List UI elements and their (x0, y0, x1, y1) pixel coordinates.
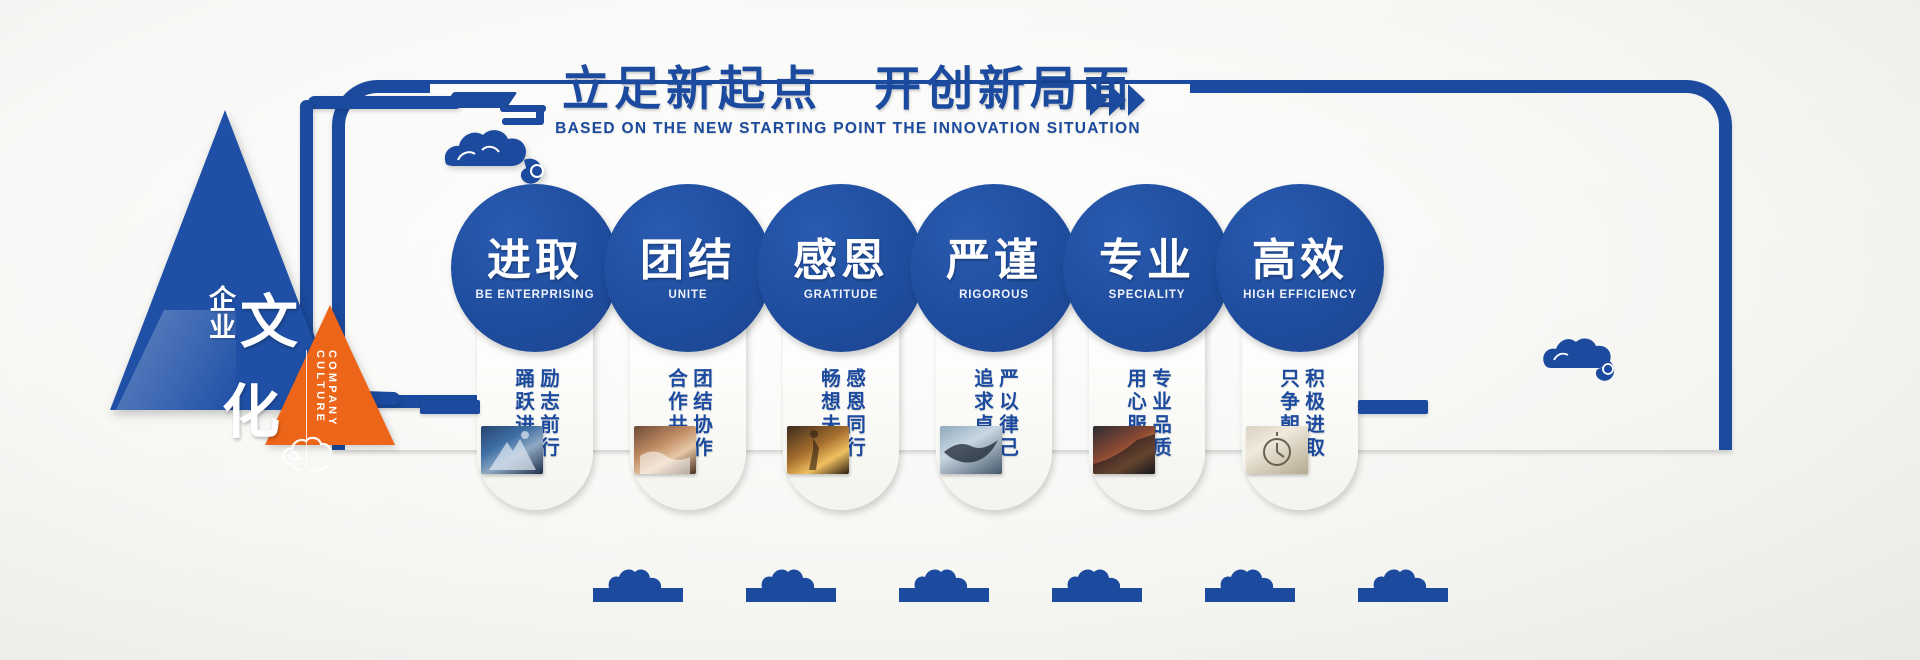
value-photo-5 (1093, 426, 1155, 474)
value-pill-2[interactable]: 团结 UNITE 团结协作 合作共赢 (630, 190, 746, 510)
cloud-divider-2 (746, 562, 836, 607)
cloud-divider-6 (1358, 562, 1448, 607)
value-en-1: BE ENTERPRISING (476, 289, 595, 301)
value-en-2: UNITE (669, 289, 708, 301)
cloud-divider-5 (1205, 562, 1295, 607)
value-pill-6[interactable]: 高效 HIGH EFFICIENCY 积极进取 只争朝夕 (1242, 190, 1358, 510)
value-pill-1[interactable]: 进取 BE ENTERPRISING 励志前行 踊跃进取 (477, 190, 593, 510)
value-en-4: RIGOROUS (959, 289, 1029, 301)
value-cn-3: 感恩 (793, 236, 889, 286)
cloud-divider-4 (1052, 562, 1142, 607)
value-pills-row: 进取 BE ENTERPRISING 励志前行 踊跃进取 团结 UNITE 团 (0, 0, 1920, 660)
connector-bar (1358, 400, 1428, 414)
value-circle-4: 严谨 RIGOROUS (910, 184, 1078, 352)
value-circle-2: 团结 UNITE (604, 184, 772, 352)
value-cn-1: 进取 (487, 236, 583, 286)
value-pill-4[interactable]: 严谨 RIGOROUS 严以律己 追求卓越 (936, 190, 1052, 510)
cloud-divider-1 (593, 562, 683, 607)
value-en-5: SPECIALITY (1109, 289, 1186, 301)
value-pill-5[interactable]: 专业 SPECIALITY 专业品质 用心服务 (1089, 190, 1205, 510)
value-photo-6 (1246, 426, 1308, 474)
value-photo-1 (481, 426, 543, 474)
value-cn-2: 团结 (640, 236, 736, 286)
value-photo-3 (787, 426, 849, 474)
culture-wall-scene: 企业 文 化 COMPANY CULTURE 立足新起点 开创新局面 BASED… (0, 0, 1920, 660)
value-circle-3: 感恩 GRATITUDE (757, 184, 925, 352)
value-pill-3[interactable]: 感恩 GRATITUDE 感恩同行 畅想未来 (783, 190, 899, 510)
value-circle-6: 高效 HIGH EFFICIENCY (1216, 184, 1384, 352)
value-photo-4 (940, 426, 1002, 474)
value-circle-1: 进取 BE ENTERPRISING (451, 184, 619, 352)
value-cn-4: 严谨 (946, 236, 1042, 286)
value-cn-6: 高效 (1252, 236, 1348, 286)
cloud-divider-3 (899, 562, 989, 607)
value-circle-5: 专业 SPECIALITY (1063, 184, 1231, 352)
value-en-6: HIGH EFFICIENCY (1243, 289, 1357, 301)
value-en-3: GRATITUDE (804, 289, 878, 301)
value-cn-5: 专业 (1099, 236, 1195, 286)
value-photo-2 (634, 426, 696, 474)
connector-bar (420, 400, 480, 414)
